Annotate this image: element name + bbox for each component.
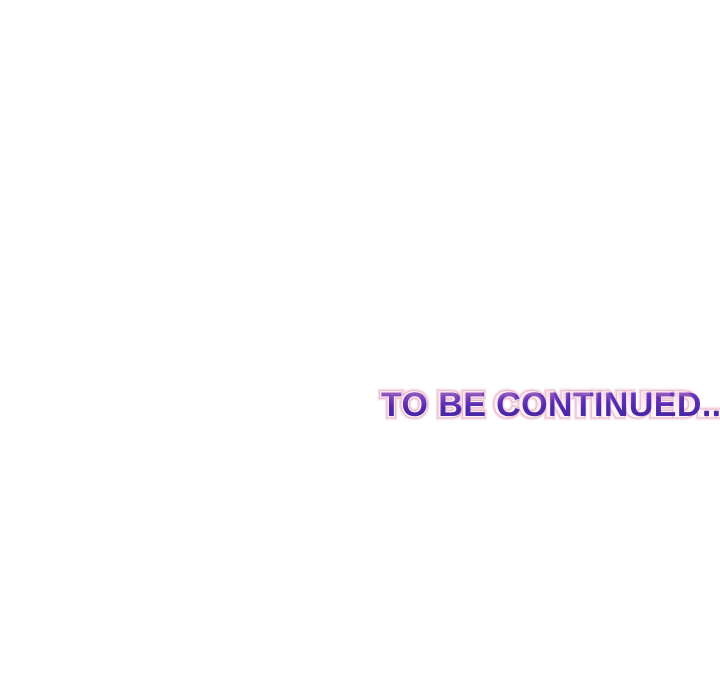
caption-face-layer: TO BE CONTINUED...	[381, 386, 720, 424]
caption-text-stack: TO BE CONTINUED... TO BE CONTINUED... TO…	[381, 388, 720, 422]
comic-page-canvas: TO BE CONTINUED... TO BE CONTINUED... TO…	[0, 0, 720, 700]
to-be-continued-caption: TO BE CONTINUED... TO BE CONTINUED... TO…	[381, 383, 711, 427]
